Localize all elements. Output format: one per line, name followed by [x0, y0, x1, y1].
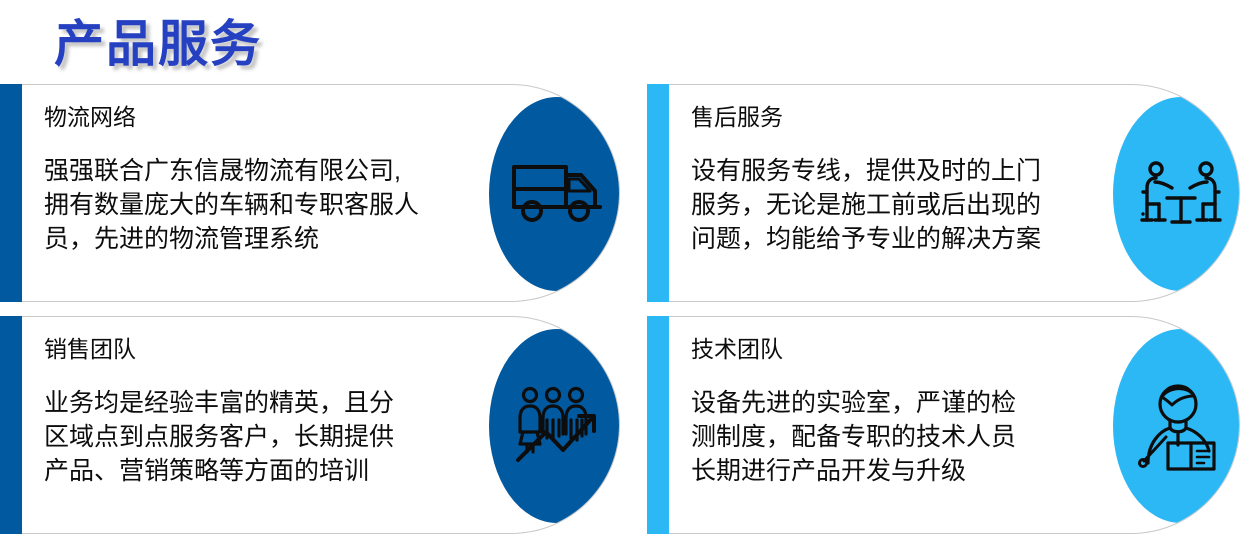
card-text-block: 售后服务 设有服务专线，提供及时的上门 服务，无论是施工前或后出现的 问题，均能…: [691, 103, 1099, 256]
card-body: 销售团队 业务均是经验丰富的精英，且分 区域点到点服务客户，长期提供 产品、营销…: [22, 316, 620, 534]
card-icon-badge: [1113, 97, 1240, 291]
card-description: 业务均是经验丰富的精英，且分 区域点到点服务客户，长期提供 产品、营销策略等方面…: [44, 386, 479, 488]
card-text-block: 销售团队 业务均是经验丰富的精英，且分 区域点到点服务客户，长期提供 产品、营销…: [44, 335, 479, 488]
card-accent-bar: [647, 84, 669, 302]
card-text-block: 技术团队 设备先进的实验室，严谨的检 测制度，配备专职的技术人员 长期进行产品开…: [691, 335, 1099, 488]
card-heading: 销售团队: [44, 335, 479, 364]
card-heading: 技术团队: [691, 335, 1099, 364]
page-title: 产品服务: [54, 16, 262, 74]
card-aftersales[interactable]: 售后服务 设有服务专线，提供及时的上门 服务，无论是施工前或后出现的 问题，均能…: [647, 84, 1240, 302]
card-logistics[interactable]: 物流网络 强强联合广东信晟物流有限公司, 拥有数量庞大的车辆和专职客服人 员，先…: [0, 84, 620, 302]
card-sales[interactable]: 销售团队 业务均是经验丰富的精英，且分 区域点到点服务客户，长期提供 产品、营销…: [0, 316, 620, 534]
card-icon-badge: [489, 97, 620, 291]
card-body: 物流网络 强强联合广东信晟物流有限公司, 拥有数量庞大的车辆和专职客服人 员，先…: [22, 84, 620, 302]
team-growth-icon: [513, 386, 601, 466]
card-text-block: 物流网络 强强联合广东信晟物流有限公司, 拥有数量庞大的车辆和专职客服人 员，先…: [44, 103, 479, 256]
card-body: 售后服务 设有服务专线，提供及时的上门 服务，无论是施工前或后出现的 问题，均能…: [669, 84, 1240, 302]
card-heading: 物流网络: [44, 103, 479, 132]
meeting-icon: [1141, 158, 1221, 230]
instructor-icon: [1140, 383, 1222, 469]
card-icon-badge: [1113, 329, 1240, 523]
card-technical[interactable]: 技术团队 设备先进的实验室，严谨的检 测制度，配备专职的技术人员 长期进行产品开…: [647, 316, 1240, 534]
card-description: 设备先进的实验室，严谨的检 测制度，配备专职的技术人员 长期进行产品开发与升级: [691, 386, 1099, 488]
card-icon-badge: [489, 329, 620, 523]
card-accent-bar: [647, 316, 669, 534]
card-heading: 售后服务: [691, 103, 1099, 132]
card-accent-bar: [0, 84, 22, 302]
card-body: 技术团队 设备先进的实验室，严谨的检 测制度，配备专职的技术人员 长期进行产品开…: [669, 316, 1240, 534]
card-accent-bar: [0, 316, 22, 534]
card-description: 强强联合广东信晟物流有限公司, 拥有数量庞大的车辆和专职客服人 员，先进的物流管…: [44, 154, 479, 256]
truck-icon: [511, 161, 603, 227]
card-description: 设有服务专线，提供及时的上门 服务，无论是施工前或后出现的 问题，均能给予专业的…: [691, 154, 1099, 256]
